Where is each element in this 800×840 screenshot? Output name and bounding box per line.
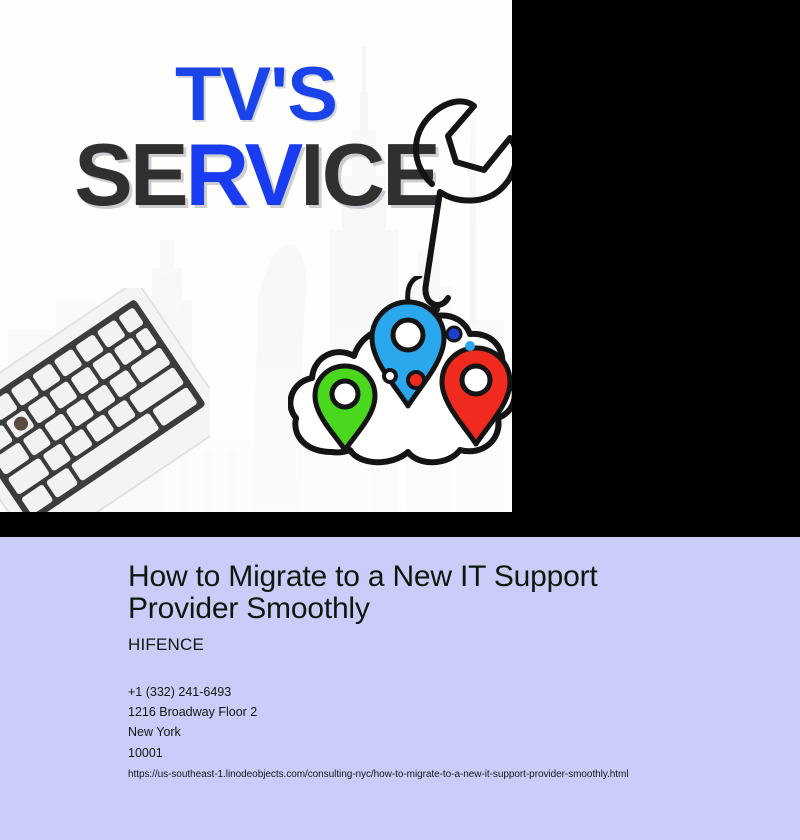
- contact-city: New York: [128, 722, 788, 742]
- info-content: How to Migrate to a New IT Support Provi…: [128, 561, 788, 780]
- page-title: How to Migrate to a New IT Support Provi…: [128, 561, 668, 626]
- hero-image: TV'S SERVICE: [0, 0, 512, 512]
- contact-street: 1216 Broadway Floor 2: [128, 702, 788, 722]
- page-root: TV'S SERVICE: [0, 0, 800, 840]
- laptop-keyboard-icon: [0, 288, 210, 512]
- contact-phone[interactable]: +1 (332) 241-6493: [128, 682, 788, 702]
- contact-block: +1 (332) 241-6493 1216 Broadway Floor 2 …: [128, 682, 788, 763]
- brand-name: HIFENCE: [128, 635, 788, 655]
- source-url[interactable]: https://us-southeast-1.linodeobjects.com…: [128, 769, 788, 780]
- cloud-with-map-pins: [288, 276, 512, 466]
- contact-zip: 10001: [128, 743, 788, 763]
- info-panel: How to Migrate to a New IT Support Provi…: [0, 537, 800, 840]
